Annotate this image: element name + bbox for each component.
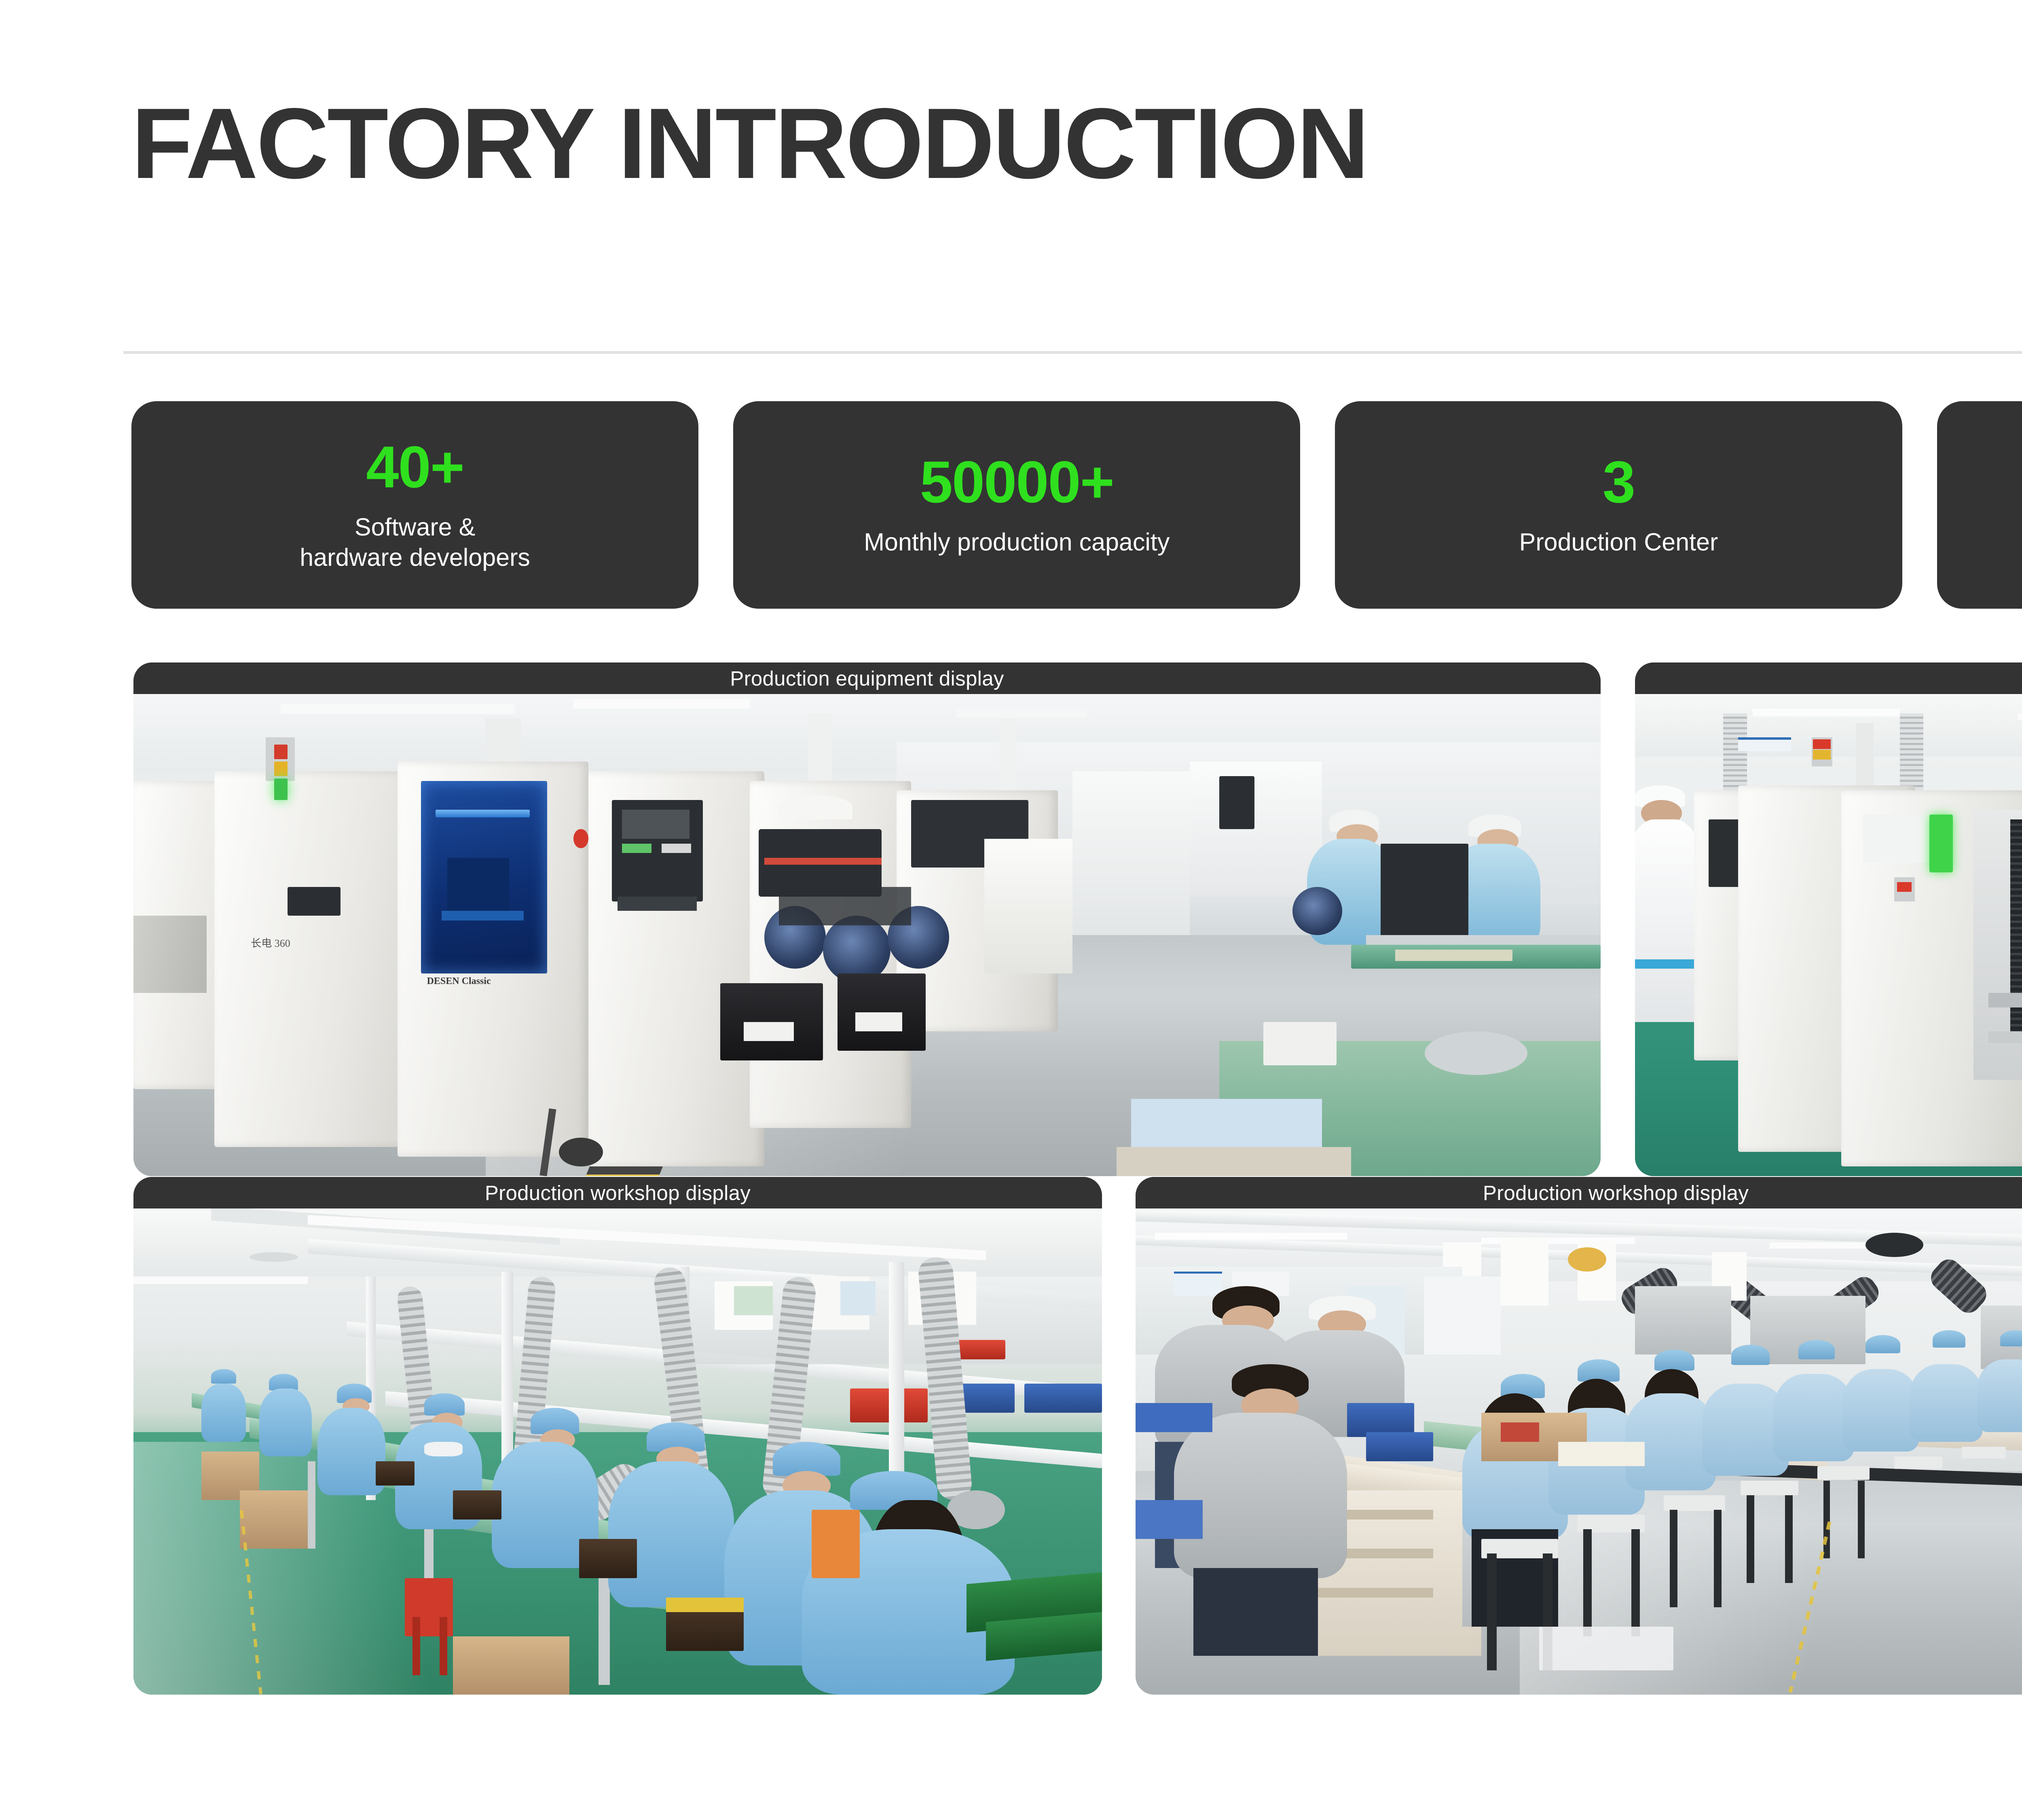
panel-caption: Production workshop display bbox=[1136, 1177, 2022, 1208]
gallery-panel-production-workshop-1[interactable]: Production workshop display bbox=[133, 1177, 1102, 1695]
stat-card-monthly-capacity[interactable]: 50000+ Monthly production capacity bbox=[733, 401, 1300, 609]
stat-card-row: 40+ Software & hardware developers 50000… bbox=[131, 401, 2022, 609]
stat-value: 50000+ bbox=[920, 453, 1114, 512]
stat-number: 3 bbox=[1603, 453, 1635, 512]
stat-label: Monthly production capacity bbox=[864, 527, 1170, 557]
header-divider bbox=[123, 351, 2022, 354]
photo-smt-production-line: 长电 360 DESEN Classic bbox=[133, 694, 1601, 1176]
photo-workshop-assembly-line bbox=[1136, 1208, 2022, 1695]
stat-card-sample-cycle[interactable]: 72H Sample customization cycle bbox=[1937, 401, 2022, 609]
stat-number: 40+ bbox=[366, 438, 464, 497]
stat-value: 40+ bbox=[366, 438, 464, 497]
gallery-panel-production-workshop-2[interactable]: Production workshop display bbox=[1136, 1177, 2022, 1695]
gallery-panel-production-equipment-1[interactable]: Production equipment display 长电 360 bbox=[133, 662, 1601, 1176]
photo-workshop-blue-esd-line bbox=[133, 1208, 1102, 1695]
slide-header: FACTORY INTRODUCTION BAJIE CHARGING bbox=[123, 81, 2022, 275]
stat-number: 50000+ bbox=[920, 453, 1114, 512]
page-title: FACTORY INTRODUCTION bbox=[131, 93, 1368, 193]
stat-label: Software & hardware developers bbox=[300, 512, 530, 572]
stat-label: Production Center bbox=[1519, 527, 1718, 557]
stat-value: 3 bbox=[1603, 453, 1635, 512]
panel-caption: Production equipment display bbox=[1635, 662, 2022, 694]
stat-card-developers[interactable]: 40+ Software & hardware developers bbox=[131, 401, 698, 609]
panel-caption: Production equipment display bbox=[133, 662, 1601, 694]
slide-root: FACTORY INTRODUCTION BAJIE CHARGING 40+ … bbox=[0, 0, 2022, 1820]
gallery-panel-production-equipment-2[interactable]: Production equipment display bbox=[1635, 662, 2022, 1176]
photo-equipment-hall-green-floor bbox=[1635, 694, 2022, 1176]
panel-caption: Production workshop display bbox=[133, 1177, 1102, 1208]
stat-card-production-center[interactable]: 3 Production Center bbox=[1335, 401, 1902, 609]
